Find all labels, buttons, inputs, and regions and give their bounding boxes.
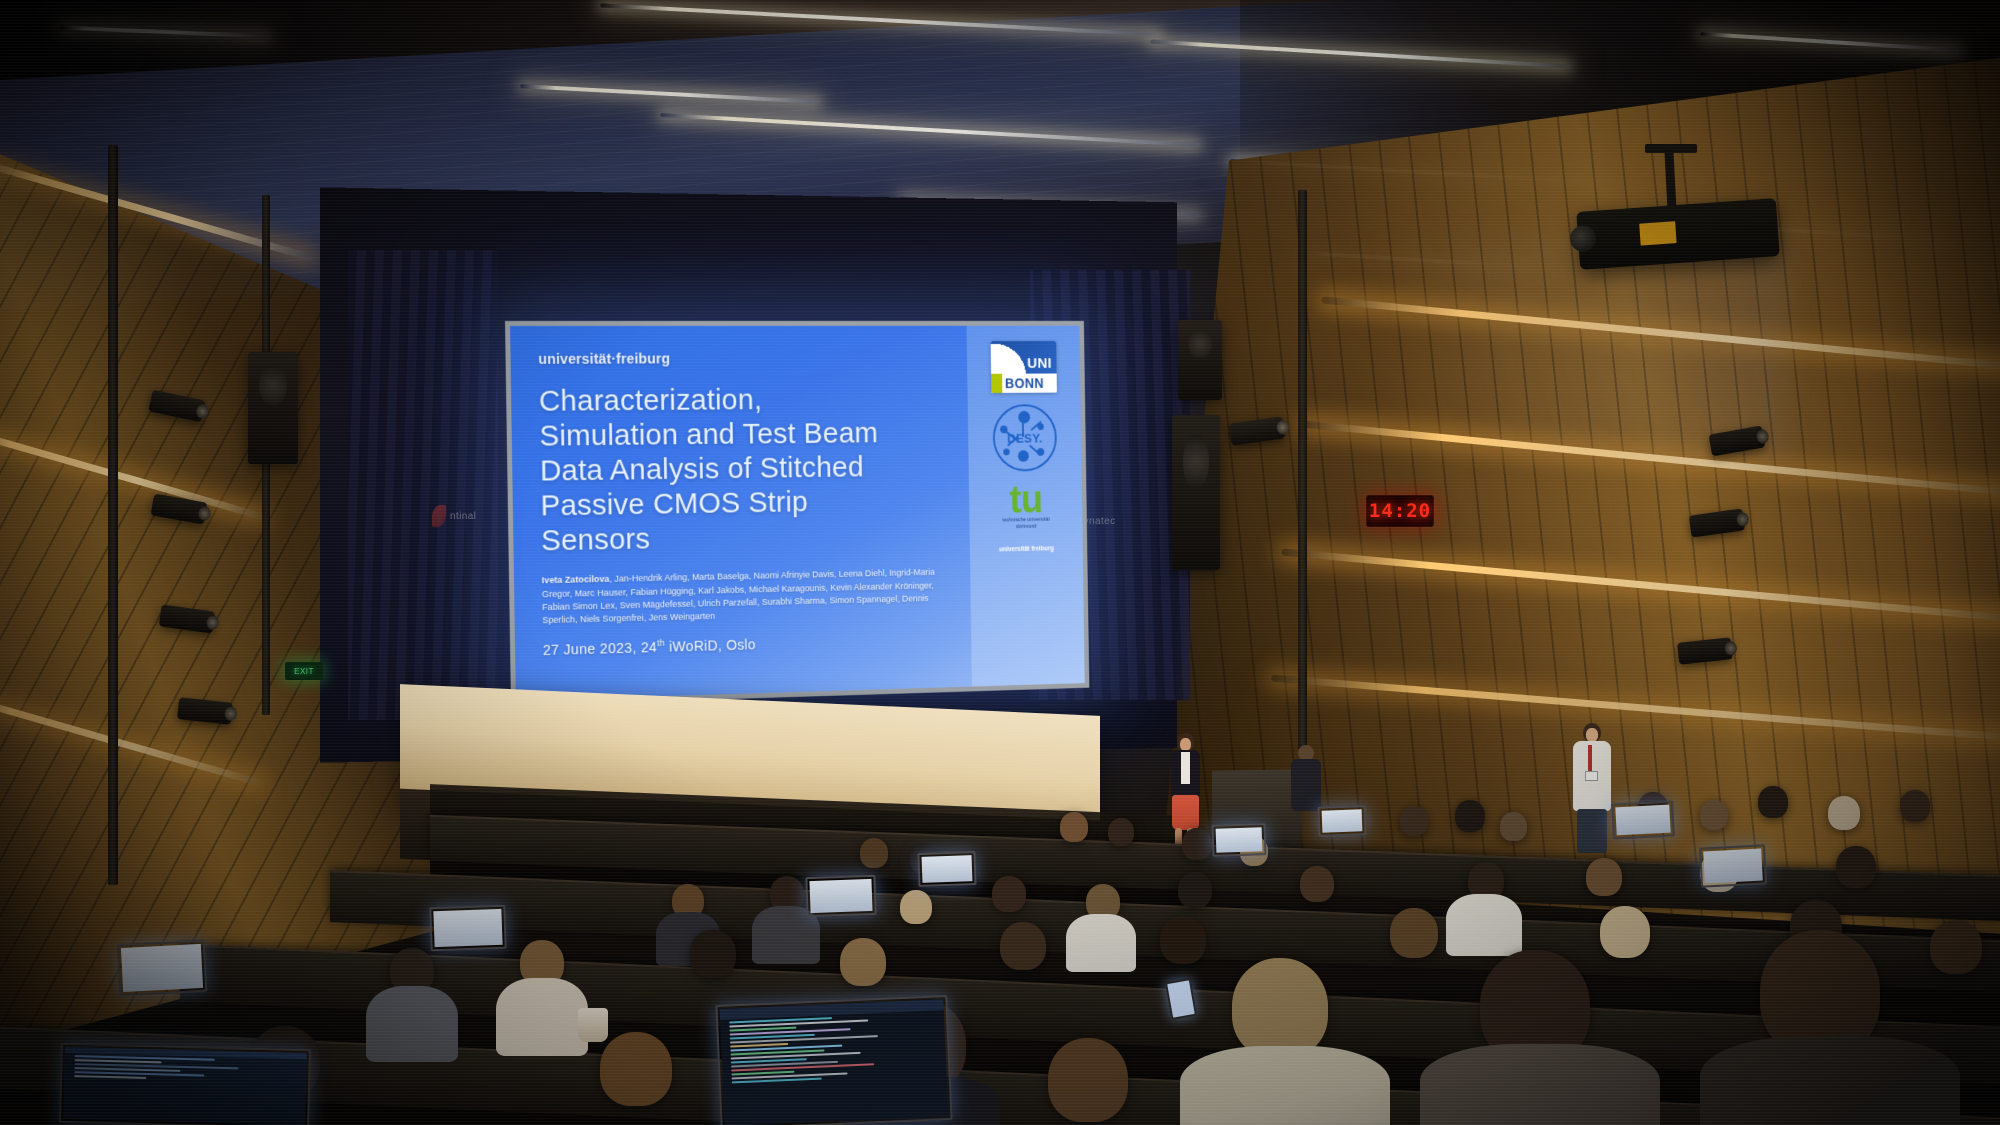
slide-conference-line: 27 June 2023, 24th iWoRiD, Oslo bbox=[543, 630, 966, 659]
audience-head bbox=[860, 838, 888, 868]
laptop-screen[interactable] bbox=[63, 1047, 307, 1125]
line-array-speaker bbox=[1172, 415, 1220, 570]
presenter-skirt bbox=[1172, 795, 1199, 830]
laptop-code-editor-screen[interactable] bbox=[720, 999, 949, 1125]
laptop-screen[interactable] bbox=[1322, 809, 1363, 832]
slide-conference-venue: iWoRiD, Oslo bbox=[665, 637, 756, 655]
desy-logo: DESY. bbox=[992, 404, 1057, 472]
laptop-screen[interactable] bbox=[433, 909, 502, 947]
uni-bonn-wordmark: BONN bbox=[991, 373, 1057, 393]
audience-head bbox=[1930, 920, 1982, 974]
tu-dortmund-logo: tu technische universität dortmund bbox=[1002, 482, 1050, 530]
laptop-screen[interactable] bbox=[1615, 805, 1670, 836]
laptop-screen[interactable] bbox=[809, 879, 872, 913]
lighting-truss-pole bbox=[108, 145, 118, 885]
audience-head bbox=[1400, 806, 1428, 836]
exit-sign: EXIT bbox=[285, 662, 323, 680]
paper-cup bbox=[578, 1008, 608, 1042]
lanyard-icon bbox=[1588, 745, 1592, 773]
attendee-laptop[interactable] bbox=[117, 940, 208, 997]
stage-curtain-left bbox=[348, 250, 498, 720]
sponsor-swoosh-icon bbox=[432, 505, 446, 527]
lighting-truss-pole bbox=[1298, 190, 1307, 750]
tu-wordmark: tu bbox=[1002, 482, 1050, 517]
audience-head bbox=[1300, 866, 1334, 902]
uni-freiburg-logo: universität freiburg bbox=[999, 545, 1054, 553]
audience-head bbox=[1390, 908, 1438, 958]
audience-body bbox=[1180, 1046, 1390, 1125]
audience-head bbox=[1160, 916, 1206, 964]
slide-title: Characterization, Simulation and Test Be… bbox=[539, 382, 965, 559]
audience-head bbox=[900, 890, 932, 924]
audience-head bbox=[1700, 800, 1728, 830]
slide-brand: universität·freiburg bbox=[538, 351, 961, 368]
audience-head bbox=[600, 1032, 672, 1106]
uni-bonn-top-label: UNI bbox=[1027, 355, 1052, 371]
desy-node-icon bbox=[1018, 450, 1029, 462]
audience-body bbox=[1446, 894, 1522, 956]
slide-title-line: Sensors bbox=[541, 517, 965, 559]
attendee-laptop[interactable] bbox=[1211, 823, 1266, 857]
uni-bonn-crest-icon: UNI bbox=[991, 341, 1057, 374]
attendee-laptop[interactable] bbox=[917, 851, 976, 887]
sponsor-banner-left-label: ntinal bbox=[450, 511, 476, 522]
laptop-screen[interactable] bbox=[121, 944, 203, 992]
projector-warning-label bbox=[1639, 221, 1676, 245]
slide-logo-column: UNI BONN bbox=[967, 326, 1085, 687]
audience-head bbox=[1836, 846, 1876, 888]
attendee-laptop[interactable] bbox=[1611, 800, 1675, 839]
laptop-lid bbox=[1699, 844, 1767, 887]
audience-head bbox=[1232, 958, 1328, 1058]
slide-author-list: Iveta Zatocilova, Jan-Hendrik Arling, Ma… bbox=[542, 566, 962, 627]
attendee-laptop[interactable] bbox=[805, 875, 876, 917]
projector-lens-icon bbox=[1569, 225, 1597, 253]
tu-subtitle-line-2: dortmund bbox=[1002, 523, 1050, 530]
audience-head bbox=[1900, 790, 1930, 822]
standing-attendee-face bbox=[1586, 728, 1598, 742]
laptop-lid bbox=[1611, 800, 1675, 839]
audience-body bbox=[366, 986, 458, 1062]
desy-node-icon bbox=[1018, 411, 1030, 424]
laptop-lid bbox=[1317, 805, 1366, 837]
laptop-screen[interactable] bbox=[1216, 827, 1263, 853]
audience-head bbox=[1600, 906, 1650, 958]
desy-node-icon bbox=[1003, 448, 1009, 455]
slide-date-ordinal: th bbox=[657, 638, 665, 648]
presentation-slide: universität·freiburg Characterization, S… bbox=[510, 326, 1085, 701]
uni-bonn-green-tab-icon bbox=[991, 374, 1002, 393]
audience-body bbox=[1700, 1036, 1960, 1125]
audience-body bbox=[1420, 1044, 1660, 1125]
audience-head bbox=[1828, 796, 1860, 830]
laptop-lid bbox=[117, 940, 208, 997]
digital-clock-time: 14:20 bbox=[1369, 500, 1431, 522]
presenter-shirt bbox=[1181, 752, 1190, 784]
audience-head bbox=[1500, 812, 1527, 841]
exit-sign-label: EXIT bbox=[294, 667, 314, 676]
av-technician-body bbox=[1291, 759, 1321, 811]
line-array-speaker bbox=[1178, 320, 1222, 400]
audience-head bbox=[1178, 872, 1212, 908]
attendee-laptop[interactable] bbox=[1317, 805, 1366, 837]
audience-head bbox=[992, 876, 1026, 912]
lecture-hall-photo: ntinal Dynatec universität·freiburg Char… bbox=[0, 0, 2000, 1125]
attendee-laptop[interactable] bbox=[429, 905, 506, 952]
audience-head bbox=[1758, 786, 1788, 818]
audience-head bbox=[1000, 922, 1046, 970]
audience-head bbox=[840, 938, 886, 986]
digital-clock: 14:20 bbox=[1366, 495, 1434, 527]
laptop-lid bbox=[715, 995, 952, 1125]
slide-date-prefix: 27 June 2023, 24 bbox=[543, 640, 657, 659]
line-array-speaker bbox=[248, 352, 298, 464]
laptop-screen[interactable] bbox=[1703, 849, 1763, 884]
attendee-laptop[interactable] bbox=[715, 995, 952, 1125]
laptop-lid bbox=[805, 875, 876, 917]
code-line bbox=[74, 1076, 147, 1080]
attendee-laptop[interactable] bbox=[1699, 844, 1767, 887]
audience-head bbox=[1060, 812, 1088, 842]
projection-screen: universität·freiburg Characterization, S… bbox=[505, 321, 1089, 706]
sponsor-banner-left: ntinal bbox=[432, 505, 476, 527]
laptop-lid bbox=[429, 905, 506, 952]
audience-body bbox=[1066, 914, 1136, 972]
audience-head bbox=[1455, 800, 1485, 832]
audience-head bbox=[1182, 828, 1212, 860]
uni-bonn-bottom-label: BONN bbox=[1002, 375, 1044, 391]
name-badge bbox=[1585, 771, 1598, 781]
audience-body bbox=[496, 978, 588, 1056]
audience-head bbox=[1108, 818, 1134, 846]
slide-title-line: Simulation and Test Beam bbox=[539, 415, 963, 453]
uni-bonn-logo: UNI BONN bbox=[991, 341, 1057, 393]
audience-head bbox=[690, 930, 736, 978]
standing-attendee-legs bbox=[1577, 809, 1607, 853]
standing-attendee bbox=[1570, 723, 1614, 853]
slide-title-line: Characterization, bbox=[539, 382, 963, 419]
audience-head bbox=[1586, 858, 1622, 896]
audience-head bbox=[1048, 1038, 1128, 1122]
desy-wordmark: DESY. bbox=[995, 430, 1055, 445]
slide-lead-author: Iveta Zatocilova bbox=[542, 574, 610, 585]
laptop-lid bbox=[1211, 823, 1266, 857]
slide-main-column: universität·freiburg Characterization, S… bbox=[510, 326, 972, 701]
laptop-lid bbox=[59, 1043, 311, 1125]
laptop-lid bbox=[917, 851, 976, 887]
attendee-laptop[interactable] bbox=[59, 1043, 311, 1125]
laptop-screen[interactable] bbox=[922, 855, 973, 883]
